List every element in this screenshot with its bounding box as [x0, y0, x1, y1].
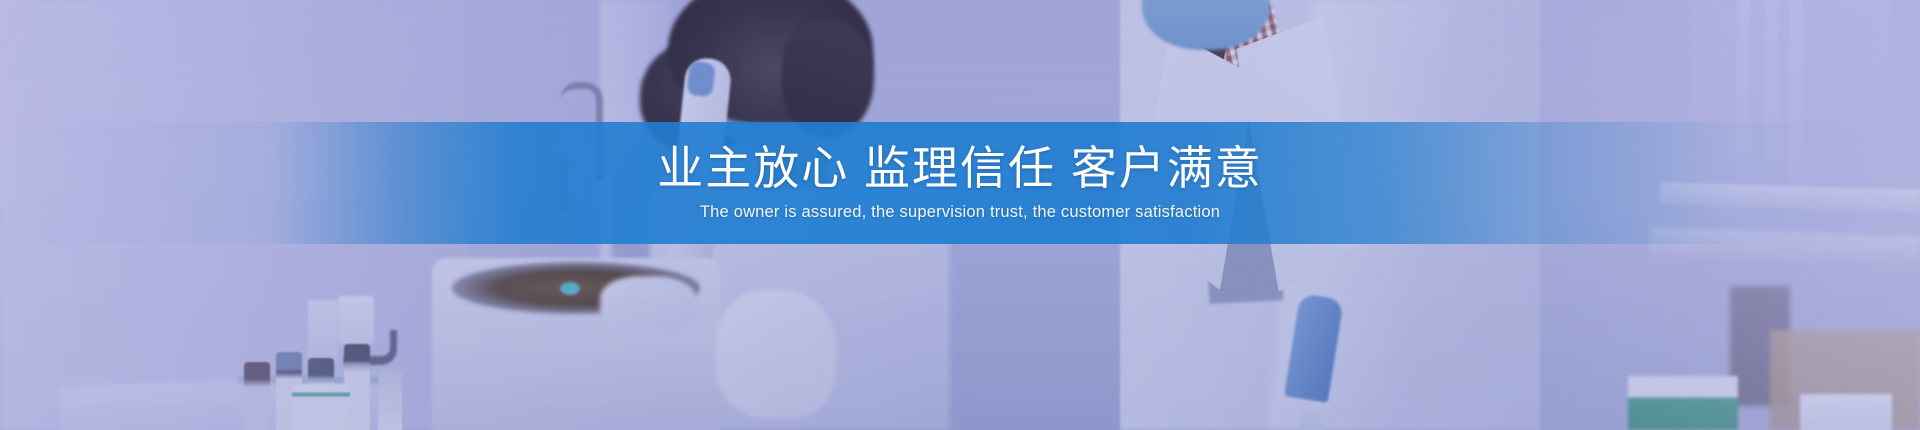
banner-headline: 业主放心 监理信任 客户满意 — [657, 144, 1263, 192]
hero-banner: 业主放心 监理信任 客户满意 The owner is assured, the… — [0, 0, 1920, 430]
banner-subline: The owner is assured, the supervision tr… — [700, 203, 1220, 222]
slogan-band: 业主放心 监理信任 客户满意 The owner is assured, the… — [0, 122, 1920, 244]
slogan-band-content: 业主放心 监理信任 客户满意 The owner is assured, the… — [0, 122, 1920, 244]
